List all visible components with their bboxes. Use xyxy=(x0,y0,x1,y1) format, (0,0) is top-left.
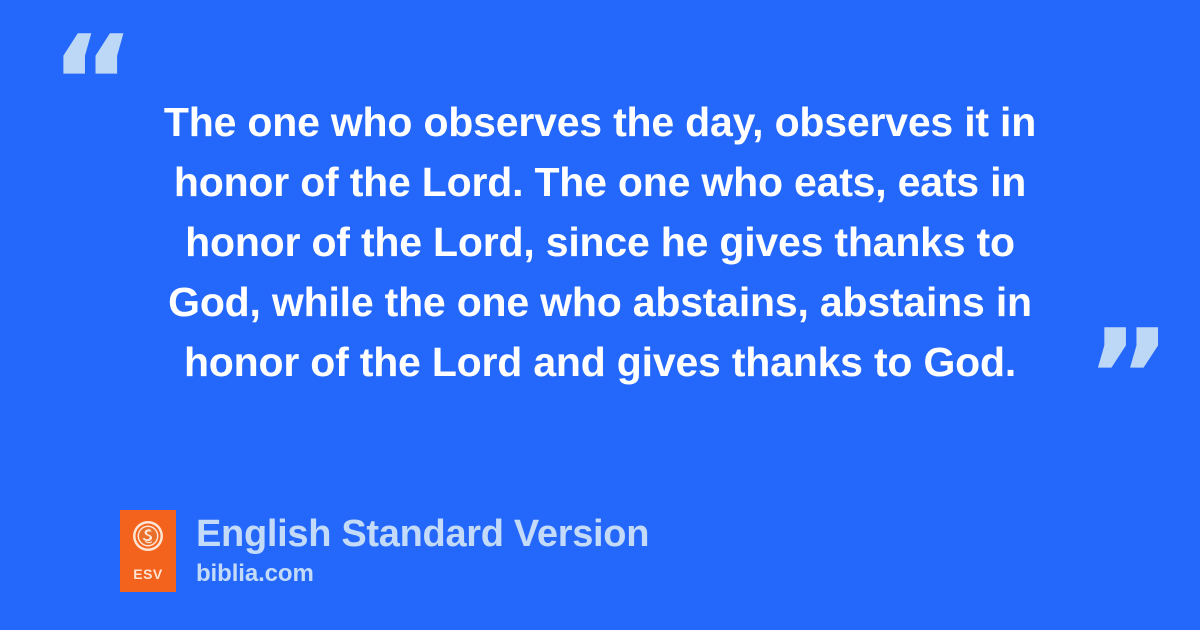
bible-version-name: English Standard Version xyxy=(196,511,649,557)
quote-line: honor of the Lord. The one who eats, eat… xyxy=(100,152,1100,212)
quote-line: honor of the Lord and gives thanks to Go… xyxy=(100,332,1100,392)
quote-line: honor of the Lord, since he gives thanks… xyxy=(100,212,1100,272)
quote-line: The one who observes the day, observes i… xyxy=(100,92,1100,152)
esv-seal-icon xyxy=(132,520,164,552)
esv-logo: ESV xyxy=(120,510,176,592)
bible-verse-quote-card: “ The one who observes the day, observes… xyxy=(0,0,1200,630)
quote-line: God, while the one who abstains, abstain… xyxy=(100,272,1100,332)
closing-quotation-mark-icon: ” xyxy=(1086,312,1169,442)
attribution-footer: ESV English Standard Version biblia.com xyxy=(120,510,649,592)
quote-text-block: The one who observes the day, observes i… xyxy=(100,92,1100,392)
site-url[interactable]: biblia.com xyxy=(196,559,649,589)
esv-logo-abbreviation: ESV xyxy=(133,567,163,581)
attribution-text-group: English Standard Version biblia.com xyxy=(196,510,649,589)
